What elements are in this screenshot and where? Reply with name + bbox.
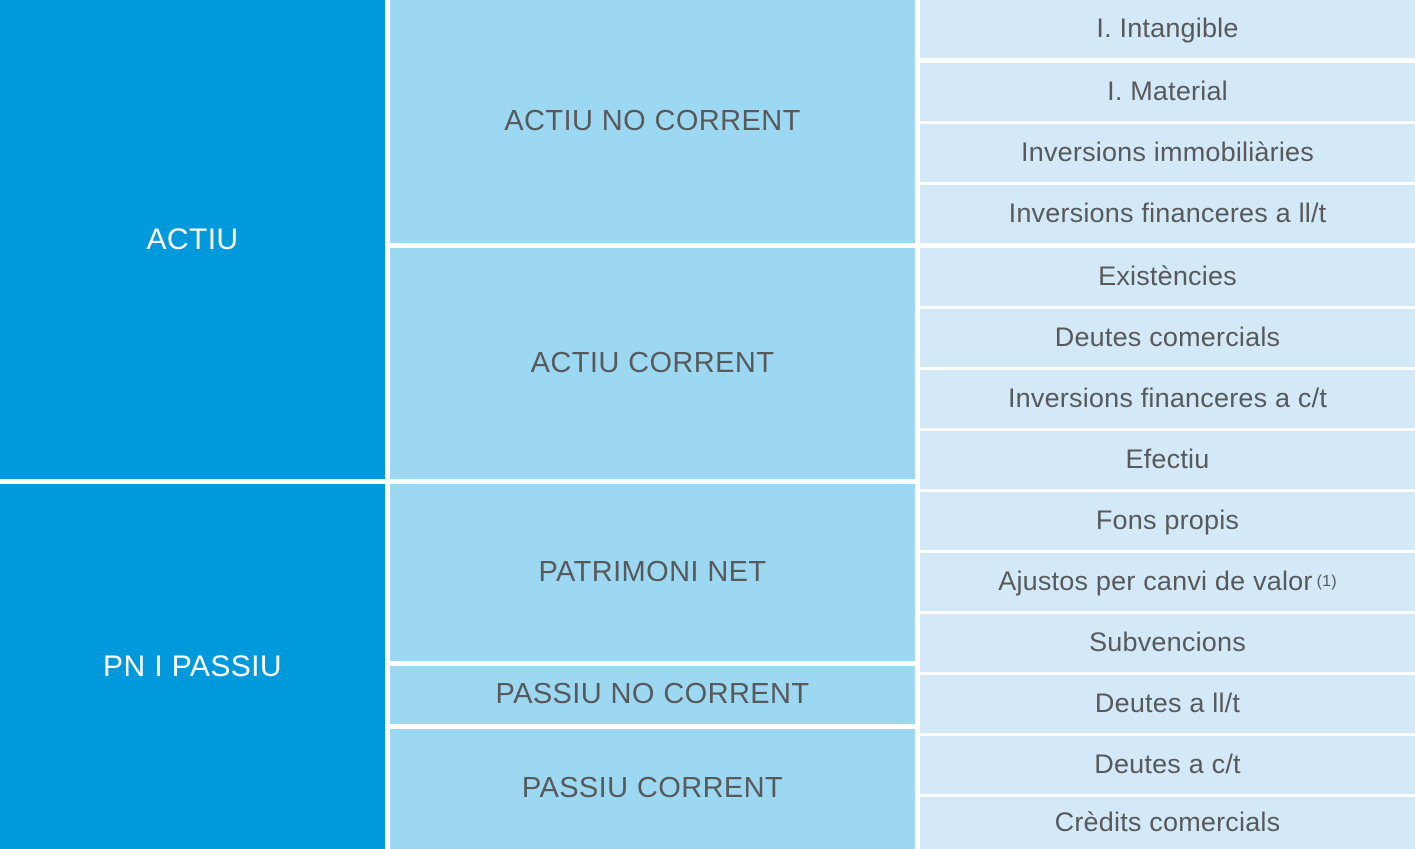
item-i-intangible[interactable]: I. Intangible xyxy=(920,0,1415,58)
footnote-marker: (1) xyxy=(1317,574,1337,590)
item-deutes-ct[interactable]: Deutes a c/t xyxy=(920,736,1415,794)
group-actiu-label: ACTIU xyxy=(147,223,239,256)
subgroup-passiu-no-corrent-label: PASSIU NO CORRENT xyxy=(495,679,809,711)
subgroup-patrimoni-net[interactable]: PATRIMONI NET xyxy=(390,484,915,661)
subgroup-patrimoni-net-label: PATRIMONI NET xyxy=(538,557,766,589)
item-inversions-financeres-llt[interactable]: Inversions financeres a ll/t xyxy=(920,185,1415,243)
item-label: Fons propis xyxy=(1096,506,1239,536)
item-inversions-financeres-ct[interactable]: Inversions financeres a c/t xyxy=(920,370,1415,428)
item-existencies[interactable]: Existències xyxy=(920,248,1415,306)
item-label: I. Intangible xyxy=(1096,14,1238,44)
item-deutes-comercials[interactable]: Deutes comercials xyxy=(920,309,1415,367)
group-pn-i-passiu[interactable]: PN I PASSIU xyxy=(0,484,385,849)
subgroup-passiu-corrent[interactable]: PASSIU CORRENT xyxy=(390,729,915,849)
item-efectiu[interactable]: Efectiu xyxy=(920,431,1415,489)
item-label: Deutes a c/t xyxy=(1094,750,1240,780)
subgroup-actiu-no-corrent-label: ACTIU NO CORRENT xyxy=(504,106,800,138)
item-ajustos-per-canvi-de-valor[interactable]: Ajustos per canvi de valor(1) xyxy=(920,553,1415,611)
subgroup-actiu-no-corrent[interactable]: ACTIU NO CORRENT xyxy=(390,0,915,243)
subgroup-passiu-corrent-label: PASSIU CORRENT xyxy=(522,773,783,805)
item-label: Subvencions xyxy=(1089,628,1246,658)
item-label: Deutes a ll/t xyxy=(1095,689,1240,719)
item-label: Existències xyxy=(1098,262,1237,292)
group-pn-i-passiu-label: PN I PASSIU xyxy=(103,650,282,683)
subgroup-actiu-corrent[interactable]: ACTIU CORRENT xyxy=(390,248,915,479)
item-label: Ajustos per canvi de valor xyxy=(998,567,1312,597)
balance-sheet-diagram: ACTIU PN I PASSIU ACTIU NO CORRENT ACTIU… xyxy=(0,0,1415,849)
item-subvencions[interactable]: Subvencions xyxy=(920,614,1415,672)
group-actiu[interactable]: ACTIU xyxy=(0,0,385,479)
subgroup-passiu-no-corrent[interactable]: PASSIU NO CORRENT xyxy=(390,666,915,724)
item-fons-propis[interactable]: Fons propis xyxy=(920,492,1415,550)
item-label: I. Material xyxy=(1107,77,1228,107)
item-i-material[interactable]: I. Material xyxy=(920,63,1415,121)
subgroup-actiu-corrent-label: ACTIU CORRENT xyxy=(531,348,775,380)
item-label: Inversions immobiliàries xyxy=(1021,138,1314,168)
item-credits-comercials[interactable]: Crèdits comercials xyxy=(920,797,1415,849)
item-inversions-immobiliaries[interactable]: Inversions immobiliàries xyxy=(920,124,1415,182)
item-label: Deutes comercials xyxy=(1055,323,1280,353)
item-deutes-llt[interactable]: Deutes a ll/t xyxy=(920,675,1415,733)
item-label: Inversions financeres a c/t xyxy=(1008,384,1327,414)
item-label: Inversions financeres a ll/t xyxy=(1009,199,1327,229)
item-label: Efectiu xyxy=(1126,445,1210,475)
item-label: Crèdits comercials xyxy=(1055,808,1281,838)
